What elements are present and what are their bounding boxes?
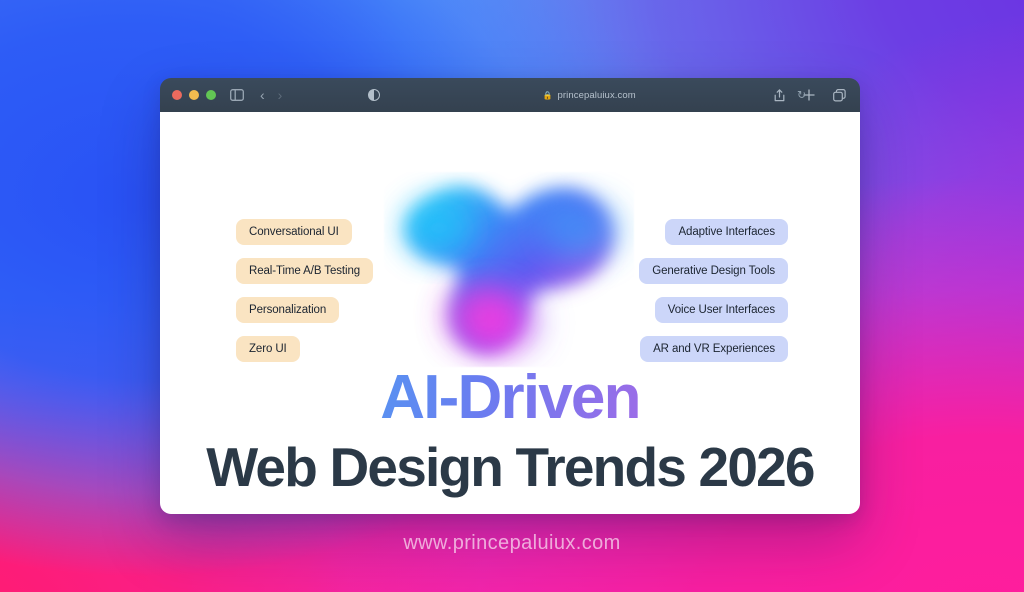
share-icon[interactable]	[774, 89, 785, 102]
pill-voice-user-interfaces[interactable]: Voice User Interfaces	[655, 297, 788, 323]
back-button[interactable]: ‹	[260, 87, 265, 103]
pill-label: Voice User Interfaces	[668, 304, 775, 316]
tabs-icon[interactable]	[833, 89, 846, 102]
web-page-content: Conversational UI Real-Time A/B Testing …	[160, 112, 860, 514]
contrast-icon[interactable]	[368, 89, 380, 101]
url-text: princepaluiux.com	[558, 90, 636, 101]
wallpaper-background: ‹ › 🔒 princepaluiux.com ↻	[0, 0, 1024, 592]
page-title: AI-Driven Web Design Trends 2026	[160, 367, 860, 495]
address-bar[interactable]: 🔒 princepaluiux.com	[404, 90, 774, 101]
forward-button: ›	[278, 87, 283, 103]
pill-label: Conversational UI	[249, 226, 339, 238]
browser-titlebar: ‹ › 🔒 princepaluiux.com ↻	[160, 78, 860, 112]
window-controls[interactable]	[172, 90, 216, 100]
abstract-gradient-blob	[384, 172, 634, 367]
pill-generative-design-tools[interactable]: Generative Design Tools	[639, 258, 788, 284]
title-line-dark: Web Design Trends 2026	[160, 440, 860, 495]
pill-label: Generative Design Tools	[652, 265, 775, 277]
pill-zero-ui[interactable]: Zero UI	[236, 336, 300, 362]
pill-label: Adaptive Interfaces	[678, 226, 775, 238]
title-line-gradient: AI-Driven	[160, 367, 860, 429]
close-button[interactable]	[172, 90, 182, 100]
pill-label: Personalization	[249, 304, 326, 316]
navigation-buttons[interactable]: ‹ ›	[260, 87, 282, 103]
sidebar-icon[interactable]	[230, 89, 244, 101]
pill-adaptive-interfaces[interactable]: Adaptive Interfaces	[665, 219, 788, 245]
reload-icon[interactable]: ↻	[797, 89, 806, 102]
pill-ar-and-vr-experiences[interactable]: AR and VR Experiences	[640, 336, 788, 362]
pill-label: Real-Time A/B Testing	[249, 265, 360, 277]
lock-icon: 🔒	[543, 91, 553, 100]
maximize-button[interactable]	[206, 90, 216, 100]
pill-conversational-ui[interactable]: Conversational UI	[236, 219, 352, 245]
pill-real-time-ab-testing[interactable]: Real-Time A/B Testing	[236, 258, 373, 284]
pill-personalization[interactable]: Personalization	[236, 297, 339, 323]
browser-window: ‹ › 🔒 princepaluiux.com ↻	[160, 78, 860, 514]
footer-watermark: www.princepaluiux.com	[0, 532, 1024, 555]
pill-label: AR and VR Experiences	[653, 343, 775, 355]
pill-label: Zero UI	[249, 343, 287, 355]
minimize-button[interactable]	[189, 90, 199, 100]
toolbar-right	[774, 89, 846, 102]
